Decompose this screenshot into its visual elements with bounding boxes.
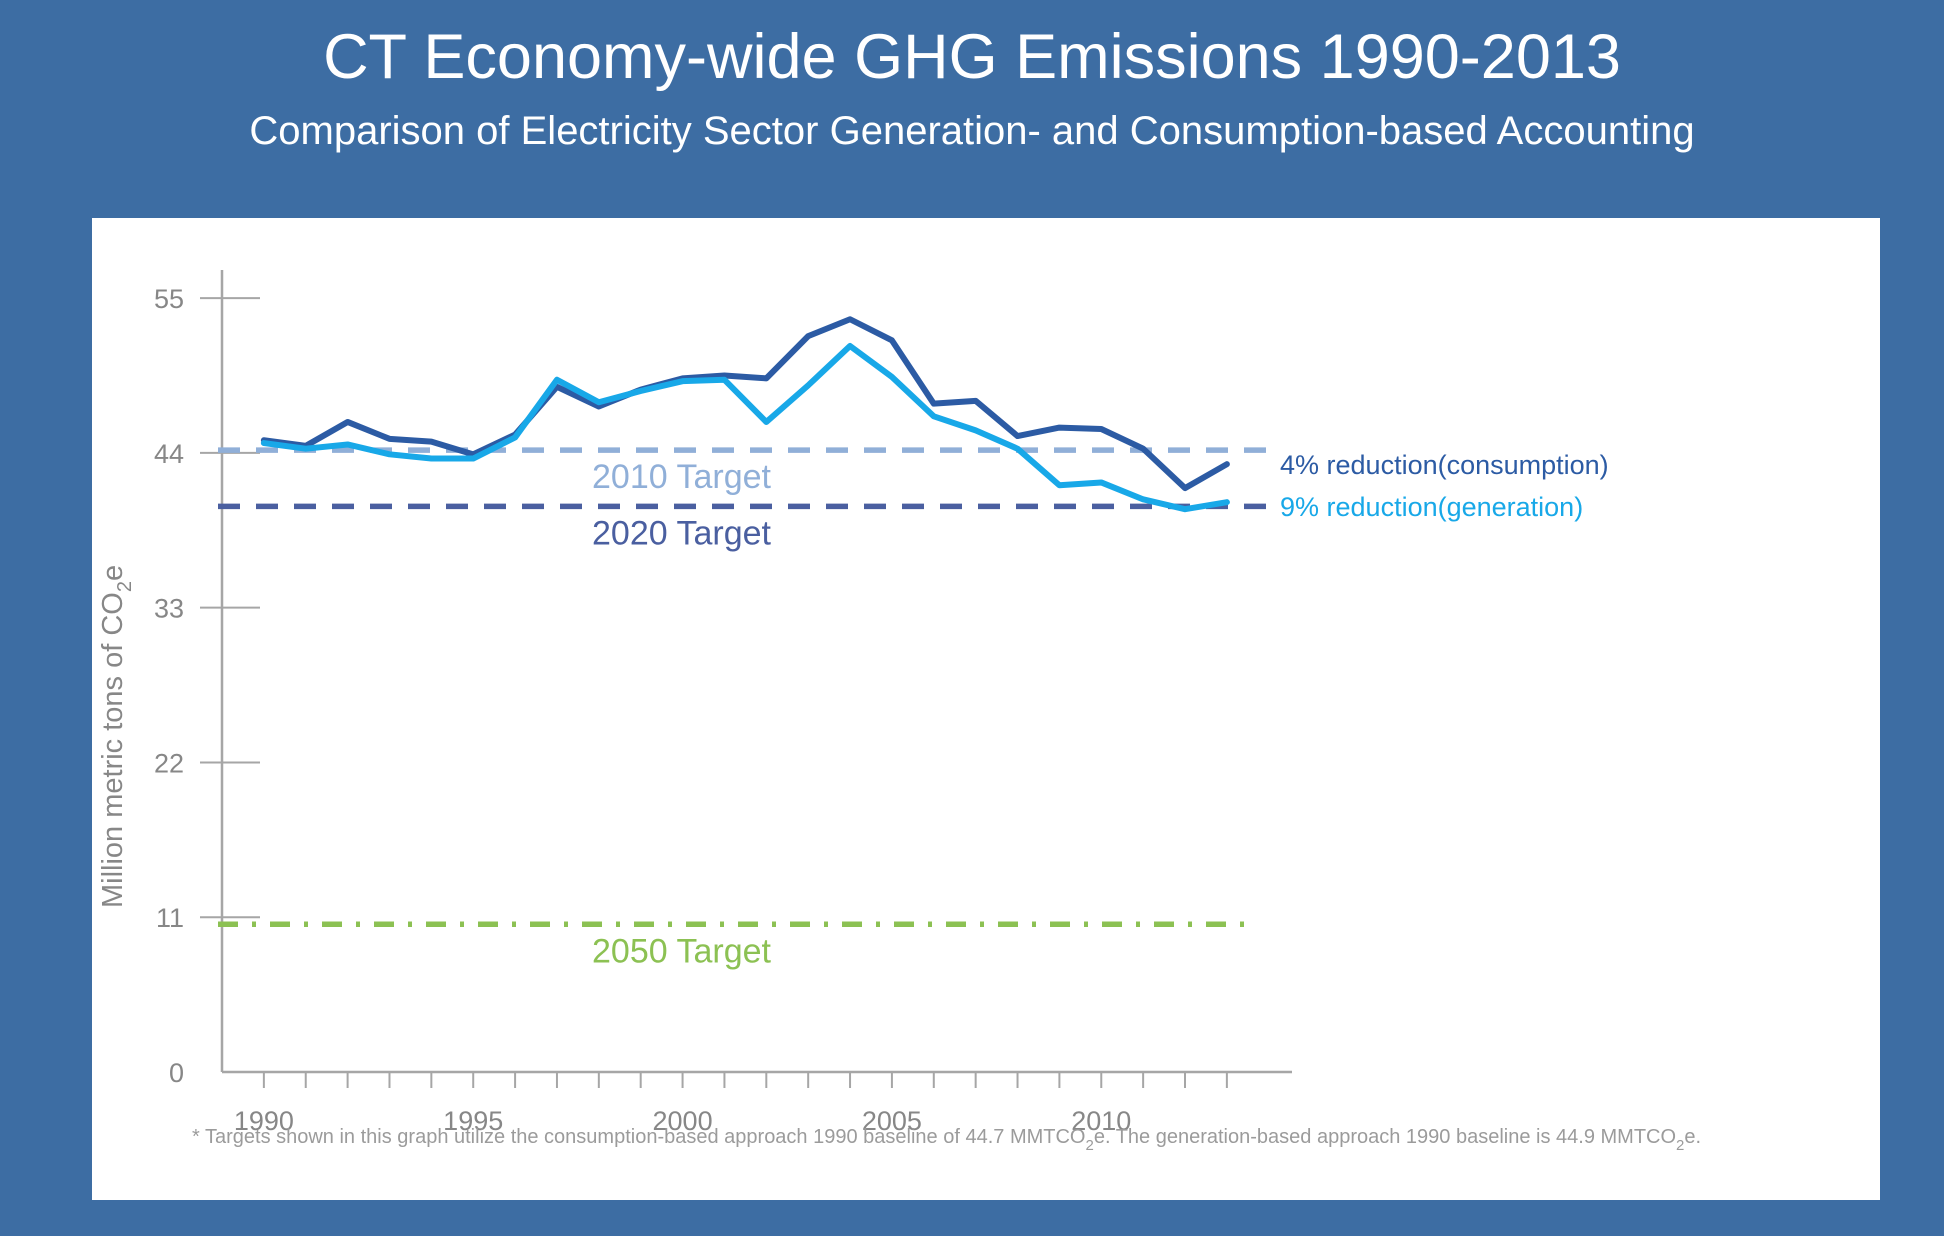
y-tick-label: 11	[156, 903, 184, 933]
footnote: * Targets shown in this graph utilize th…	[192, 1126, 1701, 1154]
y-tick-label: 0	[169, 1058, 184, 1088]
reference-line-label: 2050 Target	[592, 932, 772, 970]
y-tick-label: 44	[154, 439, 184, 469]
chart-card: Million metric tons of CO2e 01122334455 …	[92, 218, 1880, 1200]
line-chart: Million metric tons of CO2e 01122334455 …	[92, 218, 1880, 1200]
page-title: CT Economy-wide GHG Emissions 1990-2013	[0, 0, 1944, 89]
svg-text:* Targets shown in this graph: * Targets shown in this graph utilize th…	[192, 1126, 1701, 1154]
footnote-sub-1: 2	[1085, 1137, 1093, 1154]
reference-line-label: 2010 Target	[592, 458, 772, 496]
footnote-sub-2: 2	[1676, 1137, 1684, 1154]
series-legend-label: 4% reduction(consumption)	[1280, 450, 1609, 480]
reference-line-labels: 2010 Target2020 Target2050 Target	[592, 458, 772, 970]
series-legend-label: 9% reduction(generation)	[1280, 492, 1583, 522]
footnote-part-3: e.	[1684, 1126, 1701, 1148]
page-subtitle: Comparison of Electricity Sector Generat…	[0, 89, 1944, 151]
footnote-part-1: * Targets shown in this graph utilize th…	[192, 1126, 1085, 1148]
footnote-part-2: e. The generation-based approach 1990 ba…	[1094, 1126, 1676, 1148]
y-axis-title-tail: e	[97, 565, 129, 581]
y-tick-label: 22	[154, 748, 184, 778]
chart-header: CT Economy-wide GHG Emissions 1990-2013 …	[0, 0, 1944, 200]
svg-text:Million metric tons of CO2e: Million metric tons of CO2e	[97, 565, 136, 908]
y-axis-title: Million metric tons of CO2e	[97, 565, 136, 908]
series-legend-labels: 4% reduction(consumption)9% reduction(ge…	[1280, 450, 1609, 522]
y-axis-title-main: Million metric tons of CO	[97, 592, 129, 908]
y-tick-label: 33	[154, 594, 184, 624]
y-axis-title-sub: 2	[114, 581, 136, 592]
y-tick-label: 55	[154, 284, 184, 314]
y-axis-ticks: 01122334455	[154, 284, 260, 1088]
reference-line-label: 2020 Target	[592, 514, 772, 552]
